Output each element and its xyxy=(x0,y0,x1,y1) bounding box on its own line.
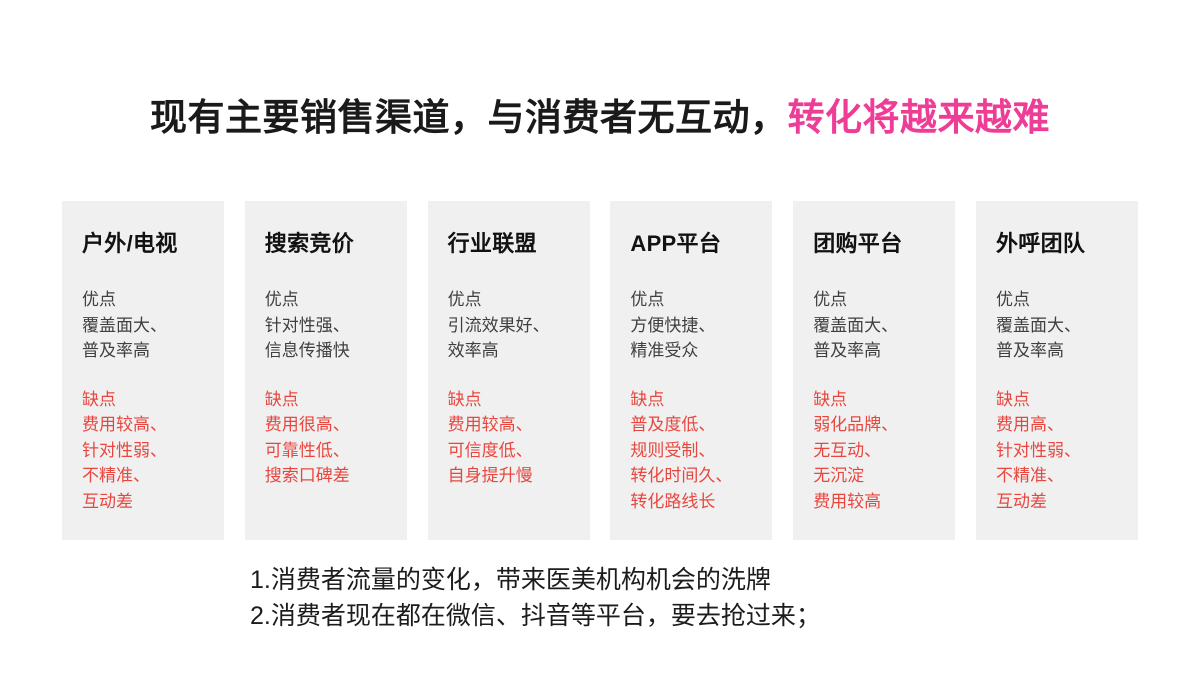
page-title-lead: 现有主要销售渠道，与消费者无互动， xyxy=(150,97,788,138)
cons-item: 无互动、 xyxy=(813,438,955,464)
cons-item: 不精准、 xyxy=(82,463,224,489)
channel-pros-block: 优点 方便快捷、 精准受众 xyxy=(630,287,772,364)
channel-card-title: APP平台 xyxy=(630,229,772,259)
cons-item: 互动差 xyxy=(996,489,1138,515)
cons-item: 费用较高 xyxy=(813,489,955,515)
cons-item: 针对性弱、 xyxy=(996,438,1138,464)
cons-item: 普及度低、 xyxy=(630,412,772,438)
cons-item: 规则受制、 xyxy=(630,438,772,464)
channel-pros-block: 优点 覆盖面大、 普及率高 xyxy=(82,287,224,364)
cons-item: 针对性弱、 xyxy=(82,438,224,464)
channel-pros-block: 优点 覆盖面大、 普及率高 xyxy=(813,287,955,364)
pros-label: 优点 xyxy=(630,287,772,313)
page-title: 现有主要销售渠道，与消费者无互动，转化将越来越难 xyxy=(0,91,1200,145)
cons-item: 自身提升慢 xyxy=(448,463,590,489)
channel-card-app-platform[interactable]: APP平台 优点 方便快捷、 精准受众 缺点 普及度低、 规则受制、 转化时间久… xyxy=(610,201,772,540)
summary-note-item: 1.消费者流量的变化，带来医美机构机会的洗牌 xyxy=(250,562,821,598)
pros-item: 针对性强、 xyxy=(265,313,407,339)
channel-card-title: 行业联盟 xyxy=(448,229,590,259)
cons-item: 弱化品牌、 xyxy=(813,412,955,438)
channel-card-group-buying[interactable]: 团购平台 优点 覆盖面大、 普及率高 缺点 弱化品牌、 无互动、 无沉淀 费用较… xyxy=(793,201,955,540)
summary-note-item: 2.消费者现在都在微信、抖音等平台，要去抢过来； xyxy=(250,598,821,634)
cons-item: 搜索口碑差 xyxy=(265,463,407,489)
pros-item: 覆盖面大、 xyxy=(813,313,955,339)
pros-item: 信息传播快 xyxy=(265,338,407,364)
cons-item: 不精准、 xyxy=(996,463,1138,489)
cons-label: 缺点 xyxy=(996,387,1138,413)
channel-cons-block: 缺点 普及度低、 规则受制、 转化时间久、 转化路线长 xyxy=(630,387,772,515)
channel-pros-block: 优点 覆盖面大、 普及率高 xyxy=(996,287,1138,364)
cons-item: 费用较高、 xyxy=(448,412,590,438)
slide-root: 现有主要销售渠道，与消费者无互动，转化将越来越难 户外/电视 优点 覆盖面大、 … xyxy=(0,0,1200,675)
cons-item: 费用高、 xyxy=(996,412,1138,438)
pros-item: 效率高 xyxy=(448,338,590,364)
cons-label: 缺点 xyxy=(82,387,224,413)
page-title-accent: 转化将越来越难 xyxy=(788,97,1051,138)
pros-label: 优点 xyxy=(996,287,1138,313)
channel-cons-block: 缺点 费用较高、 可信度低、 自身提升慢 xyxy=(448,387,590,489)
pros-label: 优点 xyxy=(82,287,224,313)
pros-item: 引流效果好、 xyxy=(448,313,590,339)
cons-item: 费用较高、 xyxy=(82,412,224,438)
cons-item: 转化路线长 xyxy=(630,489,772,515)
cons-item: 无沉淀 xyxy=(813,463,955,489)
cons-label: 缺点 xyxy=(630,387,772,413)
pros-item: 精准受众 xyxy=(630,338,772,364)
channel-pros-block: 优点 引流效果好、 效率高 xyxy=(448,287,590,364)
pros-item: 覆盖面大、 xyxy=(996,313,1138,339)
cons-item: 可靠性低、 xyxy=(265,438,407,464)
cons-item: 可信度低、 xyxy=(448,438,590,464)
cons-label: 缺点 xyxy=(813,387,955,413)
channel-card-title: 搜索竞价 xyxy=(265,229,407,259)
pros-label: 优点 xyxy=(448,287,590,313)
channel-cons-block: 缺点 费用很高、 可靠性低、 搜索口碑差 xyxy=(265,387,407,489)
channel-card-outbound-team[interactable]: 外呼团队 优点 覆盖面大、 普及率高 缺点 费用高、 针对性弱、 不精准、 互动… xyxy=(976,201,1138,540)
cons-item: 费用很高、 xyxy=(265,412,407,438)
cons-label: 缺点 xyxy=(448,387,590,413)
channel-cons-block: 缺点 费用较高、 针对性弱、 不精准、 互动差 xyxy=(82,387,224,515)
channel-cons-block: 缺点 弱化品牌、 无互动、 无沉淀 费用较高 xyxy=(813,387,955,515)
summary-notes: 1.消费者流量的变化，带来医美机构机会的洗牌 2.消费者现在都在微信、抖音等平台… xyxy=(250,562,821,634)
pros-label: 优点 xyxy=(265,287,407,313)
pros-label: 优点 xyxy=(813,287,955,313)
channel-pros-block: 优点 针对性强、 信息传播快 xyxy=(265,287,407,364)
channel-card-title: 户外/电视 xyxy=(82,229,224,259)
channel-card-outdoor-tv[interactable]: 户外/电视 优点 覆盖面大、 普及率高 缺点 费用较高、 针对性弱、 不精准、 … xyxy=(62,201,224,540)
pros-item: 覆盖面大、 xyxy=(82,313,224,339)
pros-item: 普及率高 xyxy=(813,338,955,364)
pros-item: 普及率高 xyxy=(82,338,224,364)
channel-card-industry-alliance[interactable]: 行业联盟 优点 引流效果好、 效率高 缺点 费用较高、 可信度低、 自身提升慢 xyxy=(428,201,590,540)
channel-card-title: 外呼团队 xyxy=(996,229,1138,259)
pros-item: 方便快捷、 xyxy=(630,313,772,339)
cons-item: 转化时间久、 xyxy=(630,463,772,489)
pros-item: 普及率高 xyxy=(996,338,1138,364)
channel-card-title: 团购平台 xyxy=(813,229,955,259)
channel-card-search-bidding[interactable]: 搜索竞价 优点 针对性强、 信息传播快 缺点 费用很高、 可靠性低、 搜索口碑差 xyxy=(245,201,407,540)
cons-label: 缺点 xyxy=(265,387,407,413)
channel-cons-block: 缺点 费用高、 针对性弱、 不精准、 互动差 xyxy=(996,387,1138,515)
cons-item: 互动差 xyxy=(82,489,224,515)
channel-card-row: 户外/电视 优点 覆盖面大、 普及率高 缺点 费用较高、 针对性弱、 不精准、 … xyxy=(62,201,1138,540)
